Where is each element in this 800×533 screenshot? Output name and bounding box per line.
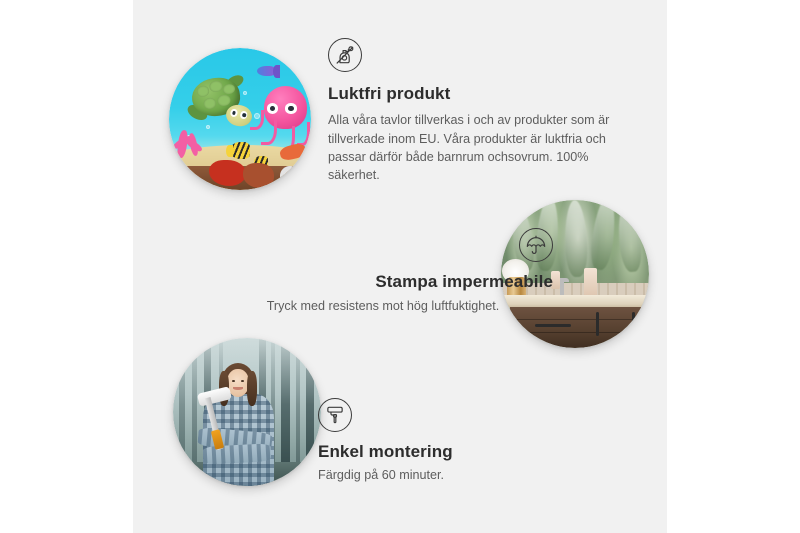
arm bbox=[202, 443, 271, 464]
feature-easy-mounting: Enkel montering Färgdig på 60 minuter. bbox=[318, 398, 618, 485]
cabinet-handle bbox=[632, 312, 635, 337]
cabinet-handle bbox=[596, 312, 599, 337]
feature-description: Tryck med resistens mot hög luftfuktighe… bbox=[213, 297, 553, 315]
striped-fish-icon bbox=[230, 142, 250, 159]
feature-title: Stampa impermeabile bbox=[213, 271, 553, 292]
paint-roller-icon bbox=[318, 398, 352, 432]
fish-tail-icon bbox=[226, 145, 233, 158]
content-panel: Luktfri produkt Alla våra tavlor tillver… bbox=[133, 0, 667, 533]
drawer-handle bbox=[535, 324, 571, 327]
no-fragrance-icon bbox=[328, 38, 362, 72]
product-feature-banner: Luktfri produkt Alla våra tavlor tillver… bbox=[0, 0, 800, 533]
bubble-icon bbox=[206, 125, 210, 129]
feature-description: Färgdig på 60 minuter. bbox=[318, 466, 618, 484]
umbrella-icon bbox=[519, 228, 553, 262]
feature-waterproof: Stampa impermeabile Tryck med resistens … bbox=[213, 228, 553, 316]
feature-title: Luktfri produkt bbox=[328, 83, 628, 104]
fish-tail-icon bbox=[273, 65, 280, 78]
feature-title: Enkel montering bbox=[318, 441, 618, 462]
feature-description: Alla våra tavlor tillverkas i och av pro… bbox=[328, 111, 628, 185]
image-decorator bbox=[173, 338, 321, 486]
image-sea-life bbox=[169, 48, 311, 190]
bubble-icon bbox=[243, 91, 247, 95]
feature-odourless: Luktfri produkt Alla våra tavlor tillver… bbox=[328, 38, 628, 185]
seabed-strip bbox=[169, 166, 311, 190]
hair-strand bbox=[247, 371, 257, 407]
